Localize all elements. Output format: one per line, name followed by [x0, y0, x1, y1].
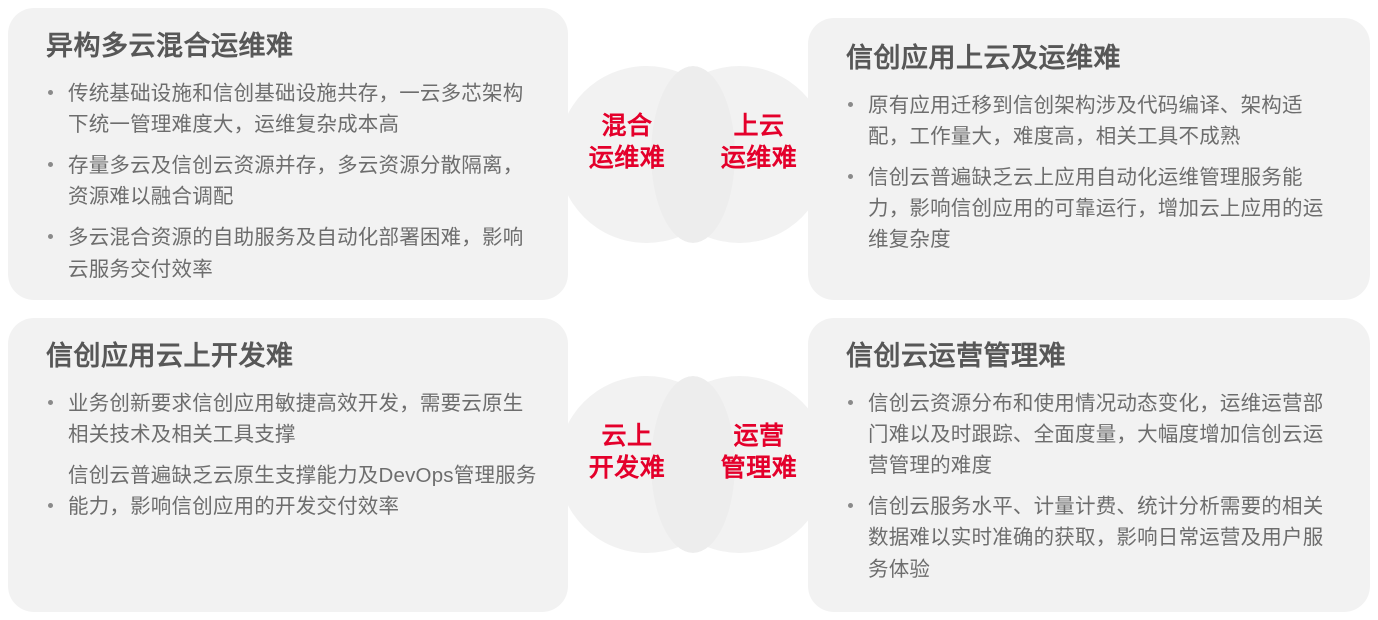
list-item-text: 信创云普遍缺乏云原生支撑能力及DevOps管理服务能力，影响信创应用的开发交付效…: [68, 464, 537, 518]
venn-label-right: 上云 运维难: [694, 110, 824, 174]
bullet-list: 信创云资源分布和使用情况动态变化，运维运营部门难以及时跟踪、全面度量，大幅度增加…: [846, 388, 1342, 585]
list-item-text: 业务创新要求信创应用敏捷高效开发，需要云原生相关技术及相关工具支撑: [68, 392, 523, 446]
bullet-dot-icon: [48, 90, 53, 95]
bullet-list: 原有应用迁移到信创架构涉及代码编译、架构适配，工作量大，难度高，相关工具不成熟 …: [846, 90, 1342, 256]
list-item-text: 传统基础设施和信创基础设施共存，一云多芯架构下统一管理难度大，运维复杂成本高: [68, 82, 523, 136]
bullet-dot-icon: [48, 400, 53, 405]
panel-cloud-operations-management: 信创云运营管理难 信创云资源分布和使用情况动态变化，运维运营部门难以及时跟踪、全…: [808, 318, 1370, 612]
list-item: 传统基础设施和信创基础设施共存，一云多芯架构下统一管理难度大，运维复杂成本高: [46, 78, 540, 140]
panel-title: 信创应用云上开发难: [46, 340, 540, 374]
bullet-list: 业务创新要求信创应用敏捷高效开发，需要云原生相关技术及相关工具支撑 信创云普遍缺…: [46, 388, 540, 523]
list-item-text: 存量多云及信创云资源并存，多云资源分散隔离，资源难以融合调配: [68, 154, 523, 208]
infographic-canvas: 异构多云混合运维难 传统基础设施和信创基础设施共存，一云多芯架构下统一管理难度大…: [0, 0, 1378, 620]
panel-content: 信创应用上云及运维难 原有应用迁移到信创架构涉及代码编译、架构适配，工作量大，难…: [846, 42, 1342, 256]
venn-label-left: 云上 开发难: [562, 420, 692, 484]
venn-label-left-line1: 混合: [562, 110, 692, 142]
panel-content: 异构多云混合运维难 传统基础设施和信创基础设施共存，一云多芯架构下统一管理难度大…: [46, 30, 540, 285]
panel-title: 信创云运营管理难: [846, 340, 1342, 374]
list-item-text: 信创云普遍缺乏云上应用自动化运维管理服务能力，影响信创应用的可靠运行，增加云上应…: [868, 166, 1323, 251]
list-item: 业务创新要求信创应用敏捷高效开发，需要云原生相关技术及相关工具支撑: [46, 388, 540, 450]
list-item: 信创云资源分布和使用情况动态变化，运维运营部门难以及时跟踪、全面度量，大幅度增加…: [846, 388, 1342, 481]
bullet-dot-icon: [848, 503, 853, 508]
list-item: 信创云服务水平、计量计费、统计分析需要的相关数据难以实时准确的获取，影响日常运营…: [846, 491, 1342, 584]
panel-content: 信创云运营管理难 信创云资源分布和使用情况动态变化，运维运营部门难以及时跟踪、全…: [846, 340, 1342, 585]
venn-label-left-line2: 开发难: [562, 452, 692, 484]
list-item: 信创云普遍缺乏云原生支撑能力及DevOps管理服务能力，影响信创应用的开发交付效…: [46, 460, 540, 522]
venn-diagram-top: 混合 运维难 上云 运维难: [558, 66, 828, 246]
bullet-dot-icon: [48, 234, 53, 239]
panel-title: 异构多云混合运维难: [46, 30, 540, 64]
list-item: 存量多云及信创云资源并存，多云资源分散隔离，资源难以融合调配: [46, 150, 540, 212]
list-item: 多云混合资源的自助服务及自动化部署困难，影响云服务交付效率: [46, 222, 540, 284]
bullet-dot-icon: [48, 162, 53, 167]
panel-cloud-development: 信创应用云上开发难 业务创新要求信创应用敏捷高效开发，需要云原生相关技术及相关工…: [8, 318, 568, 612]
list-item-text: 多云混合资源的自助服务及自动化部署困难，影响云服务交付效率: [68, 226, 523, 280]
venn-diagram-bottom: 云上 开发难 运营 管理难: [558, 376, 828, 556]
panel-title: 信创应用上云及运维难: [846, 42, 1342, 76]
panel-app-migration-ops: 信创应用上云及运维难 原有应用迁移到信创架构涉及代码编译、架构适配，工作量大，难…: [808, 18, 1370, 300]
venn-label-right-line1: 运营: [694, 420, 824, 452]
venn-label-right-line1: 上云: [694, 110, 824, 142]
panel-content: 信创应用云上开发难 业务创新要求信创应用敏捷高效开发，需要云原生相关技术及相关工…: [46, 340, 540, 522]
bullet-list: 传统基础设施和信创基础设施共存，一云多芯架构下统一管理难度大，运维复杂成本高 存…: [46, 78, 540, 285]
bullet-dot-icon: [48, 503, 53, 508]
list-item: 原有应用迁移到信创架构涉及代码编译、架构适配，工作量大，难度高，相关工具不成熟: [846, 90, 1342, 152]
venn-label-right: 运营 管理难: [694, 420, 824, 484]
venn-label-right-line2: 管理难: [694, 452, 824, 484]
bullet-dot-icon: [848, 102, 853, 107]
list-item-text: 信创云服务水平、计量计费、统计分析需要的相关数据难以实时准确的获取，影响日常运营…: [868, 495, 1323, 580]
venn-label-left-line1: 云上: [562, 420, 692, 452]
list-item-text: 原有应用迁移到信创架构涉及代码编译、架构适配，工作量大，难度高，相关工具不成熟: [868, 94, 1303, 148]
list-item: 信创云普遍缺乏云上应用自动化运维管理服务能力，影响信创应用的可靠运行，增加云上应…: [846, 162, 1342, 255]
bullet-dot-icon: [848, 174, 853, 179]
venn-label-left-line2: 运维难: [562, 142, 692, 174]
list-item-text: 信创云资源分布和使用情况动态变化，运维运营部门难以及时跟踪、全面度量，大幅度增加…: [868, 392, 1323, 477]
venn-label-left: 混合 运维难: [562, 110, 692, 174]
panel-hybrid-multicloud-ops: 异构多云混合运维难 传统基础设施和信创基础设施共存，一云多芯架构下统一管理难度大…: [8, 8, 568, 300]
bullet-dot-icon: [848, 400, 853, 405]
venn-label-right-line2: 运维难: [694, 142, 824, 174]
